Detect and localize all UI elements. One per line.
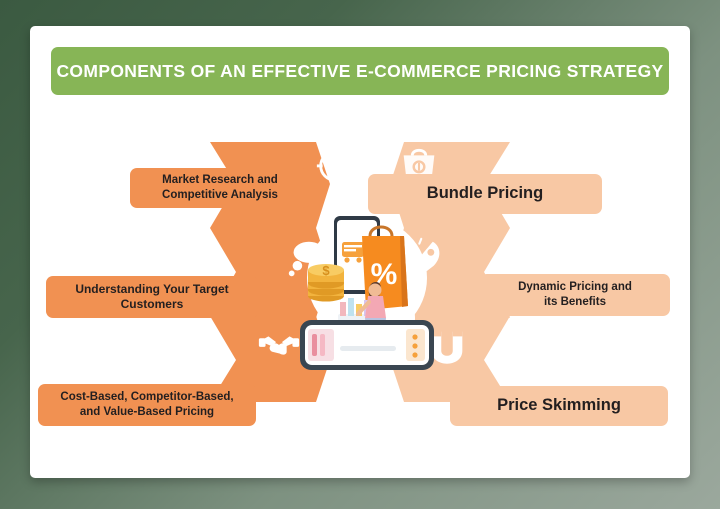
smartphone-device — [300, 320, 434, 370]
label-understanding-customers[interactable]: Understanding Your Target Customers — [46, 276, 258, 318]
slide-card: COMPONENTS OF AN EFFECTIVE E-COMMERCE PR… — [30, 26, 690, 478]
ecommerce-shopping-illustration: $ % — [292, 198, 442, 378]
label-bundle-pricing-text: Bundle Pricing — [427, 183, 543, 204]
target-icon — [314, 140, 360, 186]
label-dynamic-pricing-text: Dynamic Pricing and its Benefits — [518, 280, 632, 309]
label-cost-based-pricing[interactable]: Cost-Based, Competitor-Based, and Value-… — [38, 384, 256, 426]
label-market-research-text: Market Research and Competitive Analysis — [162, 173, 278, 202]
label-cost-based-pricing-text: Cost-Based, Competitor-Based, and Value-… — [60, 390, 233, 419]
label-understanding-customers-text: Understanding Your Target Customers — [75, 282, 228, 313]
page-title: COMPONENTS OF AN EFFECTIVE E-COMMERCE PR… — [56, 61, 663, 82]
label-price-skimming[interactable]: Price Skimming — [450, 386, 668, 426]
label-price-skimming-text: Price Skimming — [497, 395, 621, 416]
title-banner: COMPONENTS OF AN EFFECTIVE E-COMMERCE PR… — [51, 47, 669, 95]
slide-stage: COMPONENTS OF AN EFFECTIVE E-COMMERCE PR… — [0, 0, 720, 509]
pricing-strategy-diagram: $ % — [30, 98, 690, 478]
label-dynamic-pricing[interactable]: Dynamic Pricing and its Benefits — [480, 274, 670, 316]
coin-stack-dollar: $ — [308, 263, 344, 302]
svg-text:$: $ — [322, 263, 330, 278]
label-bundle-pricing[interactable]: Bundle Pricing — [368, 174, 602, 214]
label-market-research[interactable]: Market Research and Competitive Analysis — [130, 168, 310, 208]
